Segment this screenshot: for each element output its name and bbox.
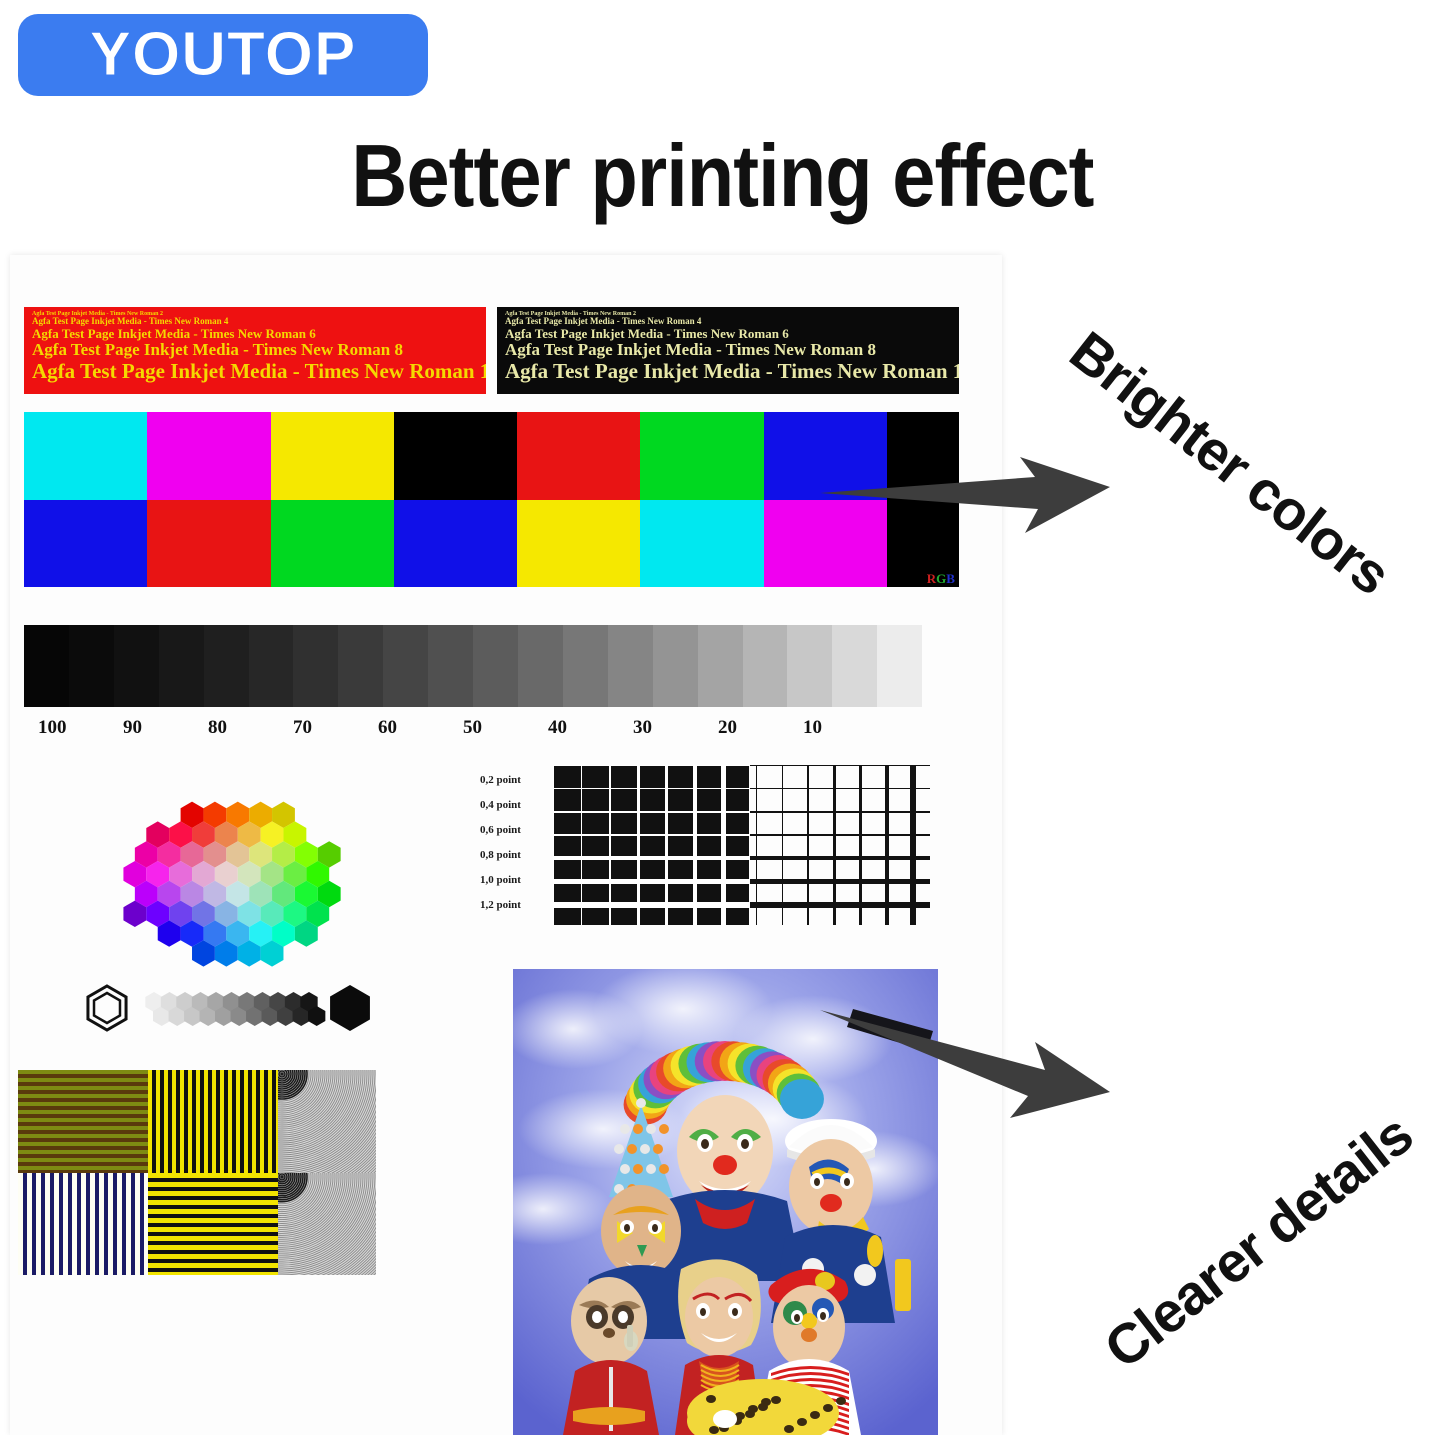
gray-step bbox=[518, 625, 563, 707]
hexagon-gray-scale-strip bbox=[82, 980, 382, 1036]
agfa-black-text-block: Agfa Test Page Inkjet Media - Times New … bbox=[497, 307, 959, 394]
color-patch-green bbox=[640, 412, 763, 500]
gray-step-label: 20 bbox=[718, 717, 737, 739]
grid-line-horizontal bbox=[750, 902, 930, 907]
color-patch-blue bbox=[394, 500, 517, 588]
gray-step bbox=[24, 625, 69, 707]
grid-line-vertical bbox=[910, 765, 915, 925]
grid-line-horizontal bbox=[750, 856, 930, 859]
color-patch-red bbox=[517, 412, 640, 500]
color-patch-magenta bbox=[147, 412, 270, 500]
youtop-logo: YOUTOP bbox=[18, 14, 428, 96]
page-title: Better printing effect bbox=[87, 125, 1359, 227]
blue-white-vertical-stripes bbox=[18, 1173, 148, 1275]
solid-black-hexagon bbox=[330, 985, 370, 1031]
color-patch-yellow bbox=[517, 500, 640, 588]
agfa-line: Agfa Test Page Inkjet Media - Times New … bbox=[505, 341, 951, 359]
gray-step-label: 40 bbox=[548, 717, 567, 739]
color-patch-black bbox=[394, 412, 517, 500]
gray-step bbox=[832, 625, 877, 707]
moire-pattern-bottom bbox=[278, 1173, 376, 1275]
grid-line-vertical bbox=[609, 765, 611, 925]
grid-line-horizontal bbox=[553, 788, 749, 789]
olive-horizontal-stripes bbox=[18, 1070, 148, 1173]
grid-line-horizontal bbox=[750, 765, 930, 766]
grid-line-vertical bbox=[665, 765, 668, 925]
gray-step bbox=[787, 625, 832, 707]
gray-step bbox=[114, 625, 159, 707]
grid-line-vertical bbox=[833, 765, 836, 925]
grid-line-horizontal bbox=[553, 879, 749, 883]
grid-line-vertical bbox=[721, 765, 726, 925]
gray-step bbox=[653, 625, 698, 707]
gray-step-label: 10 bbox=[803, 717, 822, 739]
gray-step bbox=[698, 625, 743, 707]
line-width-label: 0,6 point bbox=[480, 818, 548, 843]
line-width-label: 0,8 point bbox=[480, 843, 548, 868]
gray-step bbox=[204, 625, 249, 707]
grid-line-vertical bbox=[581, 765, 582, 925]
color-patch-blue bbox=[24, 500, 147, 588]
gray-step-label: 100 bbox=[38, 717, 67, 739]
color-patch-row-2: RGB bbox=[24, 500, 959, 588]
agfa-line: Agfa Test Page Inkjet Media - Times New … bbox=[505, 360, 951, 383]
color-patch-cyan bbox=[640, 500, 763, 588]
grid-line-horizontal bbox=[750, 879, 930, 883]
grayscale-step-wedge bbox=[24, 625, 922, 707]
gray-step bbox=[428, 625, 473, 707]
grid-line-vertical bbox=[756, 765, 757, 925]
rgb-marker: RGB bbox=[927, 572, 955, 585]
line-width-labels: 0,2 point 0,4 point 0,6 point 0,8 point … bbox=[480, 768, 548, 918]
grid-line-vertical bbox=[807, 765, 809, 925]
grid-line-vertical bbox=[553, 765, 554, 925]
gray-step bbox=[877, 625, 922, 707]
moire-rings bbox=[278, 1070, 376, 1173]
moire-pattern-top bbox=[278, 1070, 376, 1173]
gray-step-label: 90 bbox=[123, 717, 142, 739]
line-width-label: 1,0 point bbox=[480, 868, 548, 893]
grayscale-labels: 100908070605040302010 bbox=[24, 717, 959, 741]
color-patch-yellow bbox=[271, 412, 394, 500]
grid-line-vertical bbox=[637, 765, 640, 925]
yellow-black-horizontal-stripes bbox=[148, 1173, 278, 1275]
logo-text: YOUTOP bbox=[90, 24, 357, 86]
line-width-label: 1,2 point bbox=[480, 893, 548, 918]
agfa-line: Agfa Test Page Inkjet Media - Times New … bbox=[32, 341, 478, 359]
gray-step bbox=[159, 625, 204, 707]
color-wheel-hexagons bbox=[90, 777, 372, 987]
grid-line-vertical bbox=[693, 765, 697, 925]
gray-step bbox=[743, 625, 788, 707]
hexagonal-color-wheel bbox=[90, 777, 372, 987]
white-on-black-line-grid bbox=[553, 765, 749, 925]
gray-step-label: 30 bbox=[633, 717, 652, 739]
gray-step bbox=[563, 625, 608, 707]
color-patch-green bbox=[271, 500, 394, 588]
arrow-to-brighter-colors bbox=[820, 435, 1220, 555]
grid-line-horizontal bbox=[750, 834, 930, 837]
gray-step bbox=[383, 625, 428, 707]
grid-line-horizontal bbox=[553, 856, 749, 859]
line-width-label: 0,4 point bbox=[480, 793, 548, 818]
grid-line-horizontal bbox=[553, 811, 749, 813]
yellow-black-vertical-stripes bbox=[148, 1070, 278, 1173]
gray-step-label: 80 bbox=[208, 717, 227, 739]
annotation-clearer-details: Clearer details bbox=[1092, 1102, 1424, 1382]
grid-line-horizontal bbox=[553, 902, 749, 907]
grid-line-vertical bbox=[782, 765, 783, 925]
printer-test-page: Agfa Test Page Inkjet Media - Times New … bbox=[10, 255, 1002, 1435]
moire-rings bbox=[278, 1173, 376, 1275]
agfa-line: Agfa Test Page Inkjet Media - Times New … bbox=[32, 327, 478, 341]
gray-step bbox=[608, 625, 653, 707]
color-patch-row-1 bbox=[24, 412, 959, 500]
color-patch-cyan bbox=[24, 412, 147, 500]
color-patch-bars: RGB bbox=[24, 412, 959, 587]
grid-line-horizontal bbox=[553, 765, 749, 766]
outlined-hexagon-inner bbox=[94, 993, 120, 1023]
gray-step bbox=[293, 625, 338, 707]
grid-line-horizontal bbox=[750, 788, 930, 789]
gray-step-label: 50 bbox=[463, 717, 482, 739]
line-width-label: 0,2 point bbox=[480, 768, 548, 793]
grid-line-vertical bbox=[859, 765, 862, 925]
agfa-red-text-block: Agfa Test Page Inkjet Media - Times New … bbox=[24, 307, 486, 394]
arrow-to-clearer-details bbox=[820, 1000, 1220, 1130]
gray-step bbox=[338, 625, 383, 707]
resolution-pattern-panels bbox=[18, 1070, 376, 1275]
gray-step bbox=[473, 625, 518, 707]
gray-step-label: 70 bbox=[293, 717, 312, 739]
agfa-line: Agfa Test Page Inkjet Media - Times New … bbox=[32, 360, 478, 383]
gray-step bbox=[249, 625, 294, 707]
grid-line-vertical bbox=[885, 765, 889, 925]
grid-line-horizontal bbox=[750, 811, 930, 813]
gray-hexagon-row bbox=[82, 980, 382, 1036]
grid-line-horizontal bbox=[553, 834, 749, 837]
agfa-line: Agfa Test Page Inkjet Media - Times New … bbox=[505, 327, 951, 341]
gray-step-label: 60 bbox=[378, 717, 397, 739]
color-patch-red bbox=[147, 500, 270, 588]
black-on-white-line-grid bbox=[750, 765, 930, 925]
gray-step bbox=[69, 625, 114, 707]
